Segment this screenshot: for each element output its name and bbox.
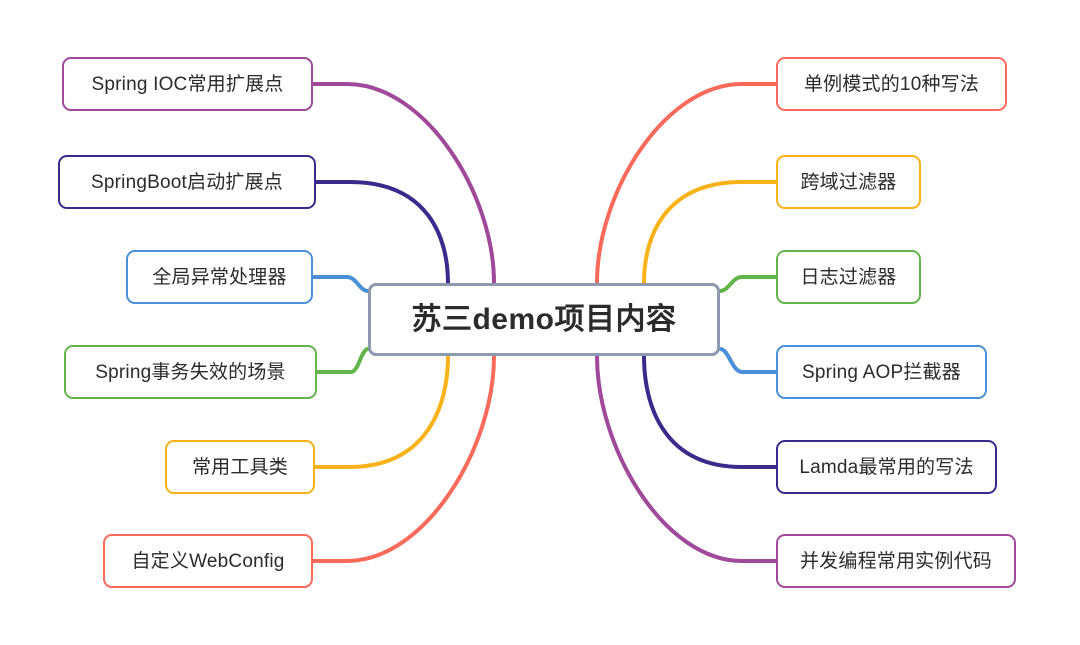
connector-common-utility-classes [315,356,448,467]
node-label: Spring AOP拦截器 [802,363,961,382]
node-spring-aop-interceptor[interactable]: Spring AOP拦截器 [776,345,987,399]
node-label: Lamda最常用的写法 [799,458,973,477]
node-concurrent-programming-examples[interactable]: 并发编程常用实例代码 [776,534,1016,588]
node-cors-filter[interactable]: 跨域过滤器 [776,155,921,209]
node-label: 单例模式的10种写法 [804,75,979,94]
node-label: Spring事务失效的场景 [95,363,286,382]
node-global-exception-handler[interactable]: 全局异常处理器 [126,250,313,304]
node-label: 常用工具类 [192,458,288,477]
node-label: 跨域过滤器 [800,173,896,192]
connector-spring-ioc-extension-points [313,84,494,283]
connector-singleton-pattern-10-ways [597,84,776,283]
connector-global-exception-handler [313,277,368,291]
center-node[interactable]: 苏三demo项目内容 [368,283,720,356]
mindmap-canvas: Spring IOC常用扩展点 SpringBoot启动扩展点 全局异常处理器 … [0,0,1080,645]
node-label: 自定义WebConfig [131,552,284,571]
node-label: Spring IOC常用扩展点 [92,75,284,94]
node-springboot-startup-extension-points[interactable]: SpringBoot启动扩展点 [58,155,316,209]
node-label: 并发编程常用实例代码 [800,552,992,571]
node-label: SpringBoot启动扩展点 [91,173,283,192]
node-common-utility-classes[interactable]: 常用工具类 [165,440,315,494]
connector-springboot-startup-extension-points [316,182,448,283]
node-custom-webconfig[interactable]: 自定义WebConfig [103,534,313,588]
node-lamda-most-common-usage[interactable]: Lamda最常用的写法 [776,440,997,494]
connector-lamda-most-common-usage [644,356,776,467]
node-label: 全局异常处理器 [152,268,286,287]
connector-concurrent-programming-examples [597,356,776,561]
connector-cors-filter [644,182,776,283]
center-node-label: 苏三demo项目内容 [411,305,676,335]
connector-spring-aop-interceptor [720,349,776,372]
node-label: 日志过滤器 [800,268,896,287]
node-spring-ioc-extension-points[interactable]: Spring IOC常用扩展点 [62,57,313,111]
node-singleton-pattern-10-ways[interactable]: 单例模式的10种写法 [776,57,1007,111]
connector-log-filter [720,277,776,291]
connector-custom-webconfig [313,356,494,561]
connector-spring-transaction-failure-scenarios [317,349,368,372]
node-spring-transaction-failure-scenarios[interactable]: Spring事务失效的场景 [64,345,317,399]
node-log-filter[interactable]: 日志过滤器 [776,250,921,304]
